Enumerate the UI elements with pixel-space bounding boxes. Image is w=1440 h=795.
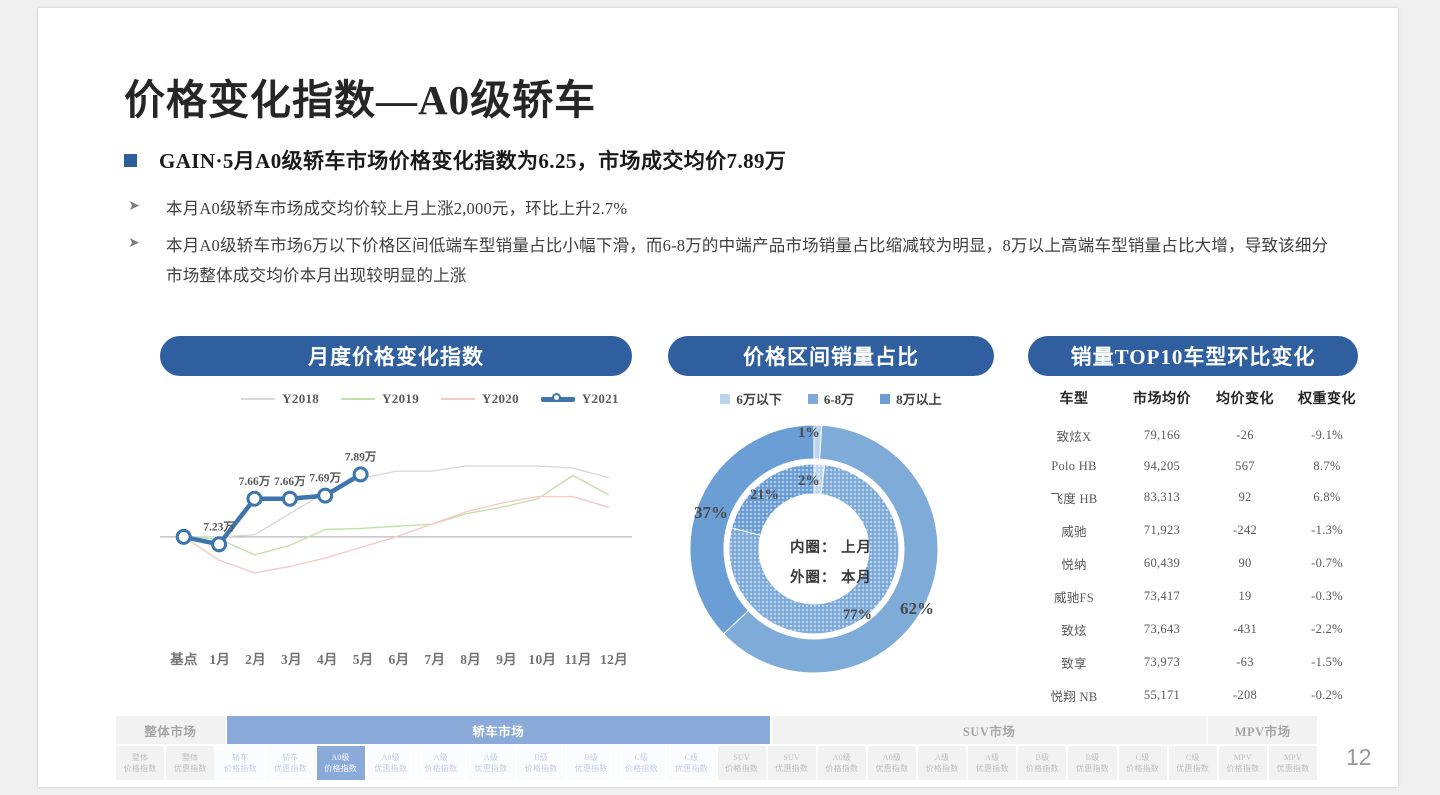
nav-cell-19[interactable]: B级优惠指数 [1068, 746, 1118, 780]
nav-cell-line2: 价格指数 [424, 763, 457, 774]
table-cell: Polo HB [1028, 452, 1120, 481]
legend-swatch-icon [341, 398, 375, 400]
nav-cell-16[interactable]: A级价格指数 [918, 746, 968, 780]
table-cell: 致炫 [1028, 613, 1120, 646]
nav-cell-line2: 价格指数 [124, 763, 157, 774]
arrow-bullet-icon: ➤ [126, 231, 142, 253]
nav-cell-line1: A0级 [883, 752, 901, 763]
legend-item-Y2019: Y2019 [341, 391, 419, 407]
top10-table: 车型市场均价均价变化权重变化 致炫X79,166-26-9.1%Polo HB9… [1028, 383, 1368, 712]
table-cell: 8.7% [1286, 452, 1368, 481]
nav-cell-line1: 轿车 [282, 752, 298, 763]
table-column-header: 市场均价 [1120, 383, 1204, 419]
nav-cell-line2: 优惠指数 [876, 763, 909, 774]
x-axis-tick: 10月 [524, 648, 560, 668]
nav-cell-23[interactable]: MPV优惠指数 [1269, 746, 1319, 780]
bottom-navigation[interactable]: 整体市场轿车市场SUV市场MPV市场 整体价格指数整体优惠指数轿车价格指数轿车优… [116, 716, 1319, 780]
headline-text: GAIN·5月A0级轿车市场价格变化指数为6.25，市场成交均价7.89万 [159, 145, 786, 175]
table-cell: 威驰FS [1028, 580, 1120, 613]
nav-cell-line2: 优惠指数 [1176, 763, 1209, 774]
nav-cell-line1: C级 [634, 752, 648, 763]
nav-cell-line2: 优惠指数 [1277, 763, 1310, 774]
table-cell: 致炫X [1028, 419, 1120, 452]
legend-label: Y2019 [382, 391, 419, 407]
nav-cell-line2: 价格指数 [1026, 763, 1059, 774]
x-axis-tick: 3月 [274, 648, 310, 668]
nav-group-整体市场[interactable]: 整体市场 [116, 716, 227, 744]
nav-cell-line1: 整体 [132, 752, 148, 763]
table-cell: 73,643 [1120, 613, 1204, 646]
x-axis-tick: 8月 [453, 648, 489, 668]
nav-cell-line2: 价格指数 [625, 763, 658, 774]
donut-percent-label: 37% [694, 503, 728, 523]
nav-cell-line1: 整体 [182, 752, 198, 763]
nav-cell-11[interactable]: C级优惠指数 [667, 746, 717, 780]
x-axis-tick: 5月 [345, 648, 381, 668]
donut-center-line: 内圈： 上月 [771, 533, 891, 563]
donut-legend-swatch-icon [880, 394, 890, 404]
nav-cell-4[interactable]: A0级价格指数 [317, 746, 367, 780]
legend-label: Y2018 [282, 391, 319, 407]
nav-cell-10[interactable]: C级价格指数 [617, 746, 667, 780]
nav-cell-line1: B级 [534, 752, 548, 763]
donut-legend-item-1: 6-8万 [808, 389, 854, 408]
nav-cell-line2: 优惠指数 [174, 763, 207, 774]
table-column-header: 权重变化 [1286, 383, 1368, 419]
table-cell: -0.3% [1286, 580, 1368, 613]
table-cell: 83,313 [1120, 481, 1204, 514]
table-row: 威驰FS73,41719-0.3% [1028, 580, 1368, 613]
nav-cell-0[interactable]: 整体价格指数 [116, 746, 166, 780]
table-row: 致享73,973-63-1.5% [1028, 646, 1368, 679]
x-axis-tick: 2月 [238, 648, 274, 668]
table-cell: 73,417 [1120, 580, 1204, 613]
table-cell: -26 [1204, 419, 1286, 452]
table-row: Polo HB94,2055678.7% [1028, 452, 1368, 481]
table-cell: -63 [1204, 646, 1286, 679]
nav-cell-line2: 优惠指数 [274, 763, 307, 774]
table-header-row: 车型市场均价均价变化权重变化 [1028, 383, 1368, 419]
nav-cell-line1: 轿车 [232, 752, 248, 763]
slide-page: 价格变化指数—A0级轿车 GAIN·5月A0级轿车市场价格变化指数为6.25，市… [38, 8, 1398, 787]
top10-table-panel: 车型市场均价均价变化权重变化 致炫X79,166-26-9.1%Polo HB9… [1028, 383, 1368, 712]
table-cell: -1.5% [1286, 646, 1368, 679]
donut-percent-label: 2% [798, 473, 820, 490]
nav-cell-12[interactable]: SUV价格指数 [718, 746, 768, 780]
nav-cell-22[interactable]: MPV价格指数 [1219, 746, 1269, 780]
table-cell: -9.1% [1286, 419, 1368, 452]
donut-percent-label: 1% [798, 425, 820, 442]
table-cell: 19 [1204, 580, 1286, 613]
nav-cell-6[interactable]: A级价格指数 [417, 746, 467, 780]
table-row: 致炫73,643-431-2.2% [1028, 613, 1368, 646]
table-cell: 567 [1204, 452, 1286, 481]
nav-group-row: 整体市场轿车市场SUV市场MPV市场 [116, 716, 1319, 744]
nav-cell-1[interactable]: 整体优惠指数 [166, 746, 216, 780]
nav-cell-2[interactable]: 轿车价格指数 [216, 746, 266, 780]
nav-cell-line1: A级 [985, 752, 999, 763]
table-column-header: 均价变化 [1204, 383, 1286, 419]
table-cell: -1.3% [1286, 514, 1368, 547]
arrow-bullet-icon: ➤ [126, 194, 142, 216]
svg-text:7.23万: 7.23万 [203, 520, 235, 533]
nav-cell-line1: C级 [685, 752, 699, 763]
donut-percent-label: 77% [843, 607, 872, 624]
donut-legend-label: 6万以下 [736, 389, 782, 408]
table-column-header: 车型 [1028, 383, 1120, 419]
table-cell: 飞度 HB [1028, 481, 1120, 514]
nav-cell-line1: A0级 [833, 752, 851, 763]
donut-center-caption: 内圈： 上月外圈： 本月 [771, 533, 891, 593]
table-cell: -431 [1204, 613, 1286, 646]
nav-cell-line2: 价格指数 [224, 763, 257, 774]
x-axis-tick: 1月 [202, 648, 238, 668]
nav-cell-line2: 价格指数 [825, 763, 858, 774]
x-axis-tick: 9月 [489, 648, 525, 668]
nav-cell-line1: SUV [733, 752, 750, 763]
legend-item-Y2021: Y2021 [541, 391, 619, 407]
table-cell: 6.8% [1286, 481, 1368, 514]
nav-cell-17[interactable]: A级优惠指数 [968, 746, 1018, 780]
nav-cell-line2: 价格指数 [1226, 763, 1259, 774]
svg-text:7.66万: 7.66万 [239, 475, 271, 488]
line-chart-x-axis: 基点1月2月3月4月5月6月7月8月9月10月11月12月 [166, 648, 632, 668]
x-axis-tick: 11月 [560, 648, 596, 668]
legend-item-Y2018: Y2018 [241, 391, 319, 407]
nav-cell-line2: 优惠指数 [976, 763, 1009, 774]
nav-cell-15[interactable]: A0级优惠指数 [868, 746, 918, 780]
legend-item-Y2020: Y2020 [441, 391, 519, 407]
x-axis-tick: 4月 [309, 648, 345, 668]
donut-percent-label: 21% [750, 487, 779, 504]
x-axis-tick: 12月 [596, 648, 632, 668]
table-cell: 90 [1204, 547, 1286, 580]
donut-chart-title: 价格区间销量占比 [668, 336, 994, 376]
nav-cell-line2: 价格指数 [725, 763, 758, 774]
nav-cell-line2: 价格指数 [1126, 763, 1159, 774]
nav-cell-line1: A0级 [331, 752, 349, 763]
table-cell: 致享 [1028, 646, 1120, 679]
nav-cell-line1: C级 [1186, 752, 1200, 763]
table-cell: 55,171 [1120, 679, 1204, 712]
table-body: 致炫X79,166-26-9.1%Polo HB94,2055678.7%飞度 … [1028, 419, 1368, 712]
nav-cell-line2: 优惠指数 [775, 763, 808, 774]
nav-cell-row: 整体价格指数整体优惠指数轿车价格指数轿车优惠指数A0级价格指数A0级优惠指数A级… [116, 746, 1319, 780]
table-row: 悦翔 NB55,171-208-0.2% [1028, 679, 1368, 712]
x-axis-tick: 6月 [381, 648, 417, 668]
nav-cell-9[interactable]: B级优惠指数 [567, 746, 617, 780]
slide-canvas: 价格变化指数—A0级轿车 GAIN·5月A0级轿车市场价格变化指数为6.25，市… [0, 0, 1440, 795]
page-title: 价格变化指数—A0级轿车 [124, 66, 596, 126]
nav-cell-line2: 价格指数 [324, 763, 357, 774]
nav-cell-line1: A级 [434, 752, 448, 763]
nav-cell-14[interactable]: A0级价格指数 [818, 746, 868, 780]
table-cell: 71,923 [1120, 514, 1204, 547]
legend-swatch-icon [541, 397, 575, 402]
nav-cell-line1: MPV [1234, 752, 1252, 763]
nav-cell-line2: 价格指数 [926, 763, 959, 774]
table-cell: 73,973 [1120, 646, 1204, 679]
legend-swatch-icon [441, 398, 475, 400]
nav-cell-line1: A级 [484, 752, 498, 763]
nav-cell-line1: MPV [1284, 752, 1302, 763]
donut-legend-item-2: 8万以上 [880, 389, 942, 408]
line-chart-title: 月度价格变化指数 [160, 336, 632, 376]
nav-cell-line1: B级 [1035, 752, 1049, 763]
svg-text:7.66万: 7.66万 [274, 475, 306, 488]
nav-cell-line1: SUV [783, 752, 800, 763]
nav-cell-3[interactable]: 轿车优惠指数 [266, 746, 316, 780]
donut-legend-swatch-icon [808, 394, 818, 404]
nav-cell-line1: A级 [935, 752, 949, 763]
nav-cell-line1: A0级 [381, 752, 399, 763]
nav-cell-8[interactable]: B级价格指数 [517, 746, 567, 780]
x-axis-tick: 7月 [417, 648, 453, 668]
legend-swatch-icon [241, 398, 275, 400]
table-cell: 92 [1204, 481, 1286, 514]
nav-cell-line2: 优惠指数 [475, 763, 508, 774]
table-cell: 94,205 [1120, 452, 1204, 481]
table-cell: 悦翔 NB [1028, 679, 1120, 712]
donut-legend-label: 6-8万 [824, 389, 854, 408]
page-number: 12 [1346, 744, 1372, 771]
nav-cell-5[interactable]: A0级优惠指数 [367, 746, 417, 780]
bullet-text-1: 本月A0级轿车市场成交均价较上月上涨2,000元，环比上升2.7% [166, 194, 627, 224]
nav-cell-line1: B级 [584, 752, 598, 763]
square-bullet-icon [124, 154, 137, 167]
donut-legend-item-0: 6万以下 [720, 389, 782, 408]
line-chart-panel: Y2018Y2019Y2020Y2021 7.23万7.66万7.66万7.69… [160, 383, 632, 683]
nav-cell-7[interactable]: A级优惠指数 [467, 746, 517, 780]
bullet-row-2: ➤ 本月A0级轿车市场6万以下价格区间低端车型销量占比小幅下滑，而6-8万的中端… [126, 231, 1341, 291]
table-cell: 60,439 [1120, 547, 1204, 580]
nav-cell-line2: 优惠指数 [575, 763, 608, 774]
bullet-text-2: 本月A0级轿车市场6万以下价格区间低端车型销量占比小幅下滑，而6-8万的中端产品… [166, 231, 1341, 291]
nav-cell-13[interactable]: SUV优惠指数 [768, 746, 818, 780]
line-chart-legend: Y2018Y2019Y2020Y2021 [230, 391, 630, 407]
table-cell: -0.2% [1286, 679, 1368, 712]
nav-cell-line1: C级 [1136, 752, 1150, 763]
svg-text:7.89万: 7.89万 [345, 450, 377, 463]
nav-cell-line2: 优惠指数 [374, 763, 407, 774]
legend-label: Y2020 [482, 391, 519, 407]
bullet-row-1: ➤ 本月A0级轿车市场成交均价较上月上涨2,000元，环比上升2.7% [126, 194, 1341, 224]
nav-cell-21[interactable]: C级优惠指数 [1169, 746, 1219, 780]
x-axis-tick: 基点 [166, 648, 202, 668]
nav-cell-18[interactable]: B级价格指数 [1018, 746, 1068, 780]
nav-group-MPV市场[interactable]: MPV市场 [1208, 716, 1319, 744]
headline-row: GAIN·5月A0级轿车市场价格变化指数为6.25，市场成交均价7.89万 [124, 145, 786, 175]
donut-chart-legend: 6万以下6-8万8万以上 [668, 389, 994, 408]
table-cell: -0.7% [1286, 547, 1368, 580]
donut-chart-panel: 6万以下6-8万8万以上 内圈： 上月外圈： 本月 1%62%37%2%77%2… [668, 383, 994, 683]
nav-cell-line2: 优惠指数 [1076, 763, 1109, 774]
nav-group-轿车市场[interactable]: 轿车市场 [227, 716, 772, 744]
table-cell: 79,166 [1120, 419, 1204, 452]
donut-center-line: 外圈： 本月 [771, 563, 891, 593]
svg-text:7.69万: 7.69万 [309, 472, 341, 485]
table-cell: -2.2% [1286, 613, 1368, 646]
table-row: 威驰71,923-242-1.3% [1028, 514, 1368, 547]
legend-label: Y2021 [582, 391, 619, 407]
donut-legend-swatch-icon [720, 394, 730, 404]
nav-cell-20[interactable]: C级价格指数 [1119, 746, 1169, 780]
table-cell: -242 [1204, 514, 1286, 547]
donut-percent-label: 62% [900, 599, 934, 619]
nav-group-SUV市场[interactable]: SUV市场 [772, 716, 1209, 744]
table-title: 销量TOP10车型环比变化 [1028, 336, 1358, 376]
table-cell: 威驰 [1028, 514, 1120, 547]
table-row: 飞度 HB83,313926.8% [1028, 481, 1368, 514]
table-cell: 悦纳 [1028, 547, 1120, 580]
nav-cell-line2: 价格指数 [525, 763, 558, 774]
table-cell: -208 [1204, 679, 1286, 712]
nav-cell-line2: 优惠指数 [675, 763, 708, 774]
table-row: 致炫X79,166-26-9.1% [1028, 419, 1368, 452]
table-row: 悦纳60,43990-0.7% [1028, 547, 1368, 580]
nav-cell-line1: B级 [1086, 752, 1100, 763]
line-chart-plot: 7.23万7.66万7.66万7.69万7.89万 [160, 421, 632, 651]
donut-legend-label: 8万以上 [896, 389, 942, 408]
